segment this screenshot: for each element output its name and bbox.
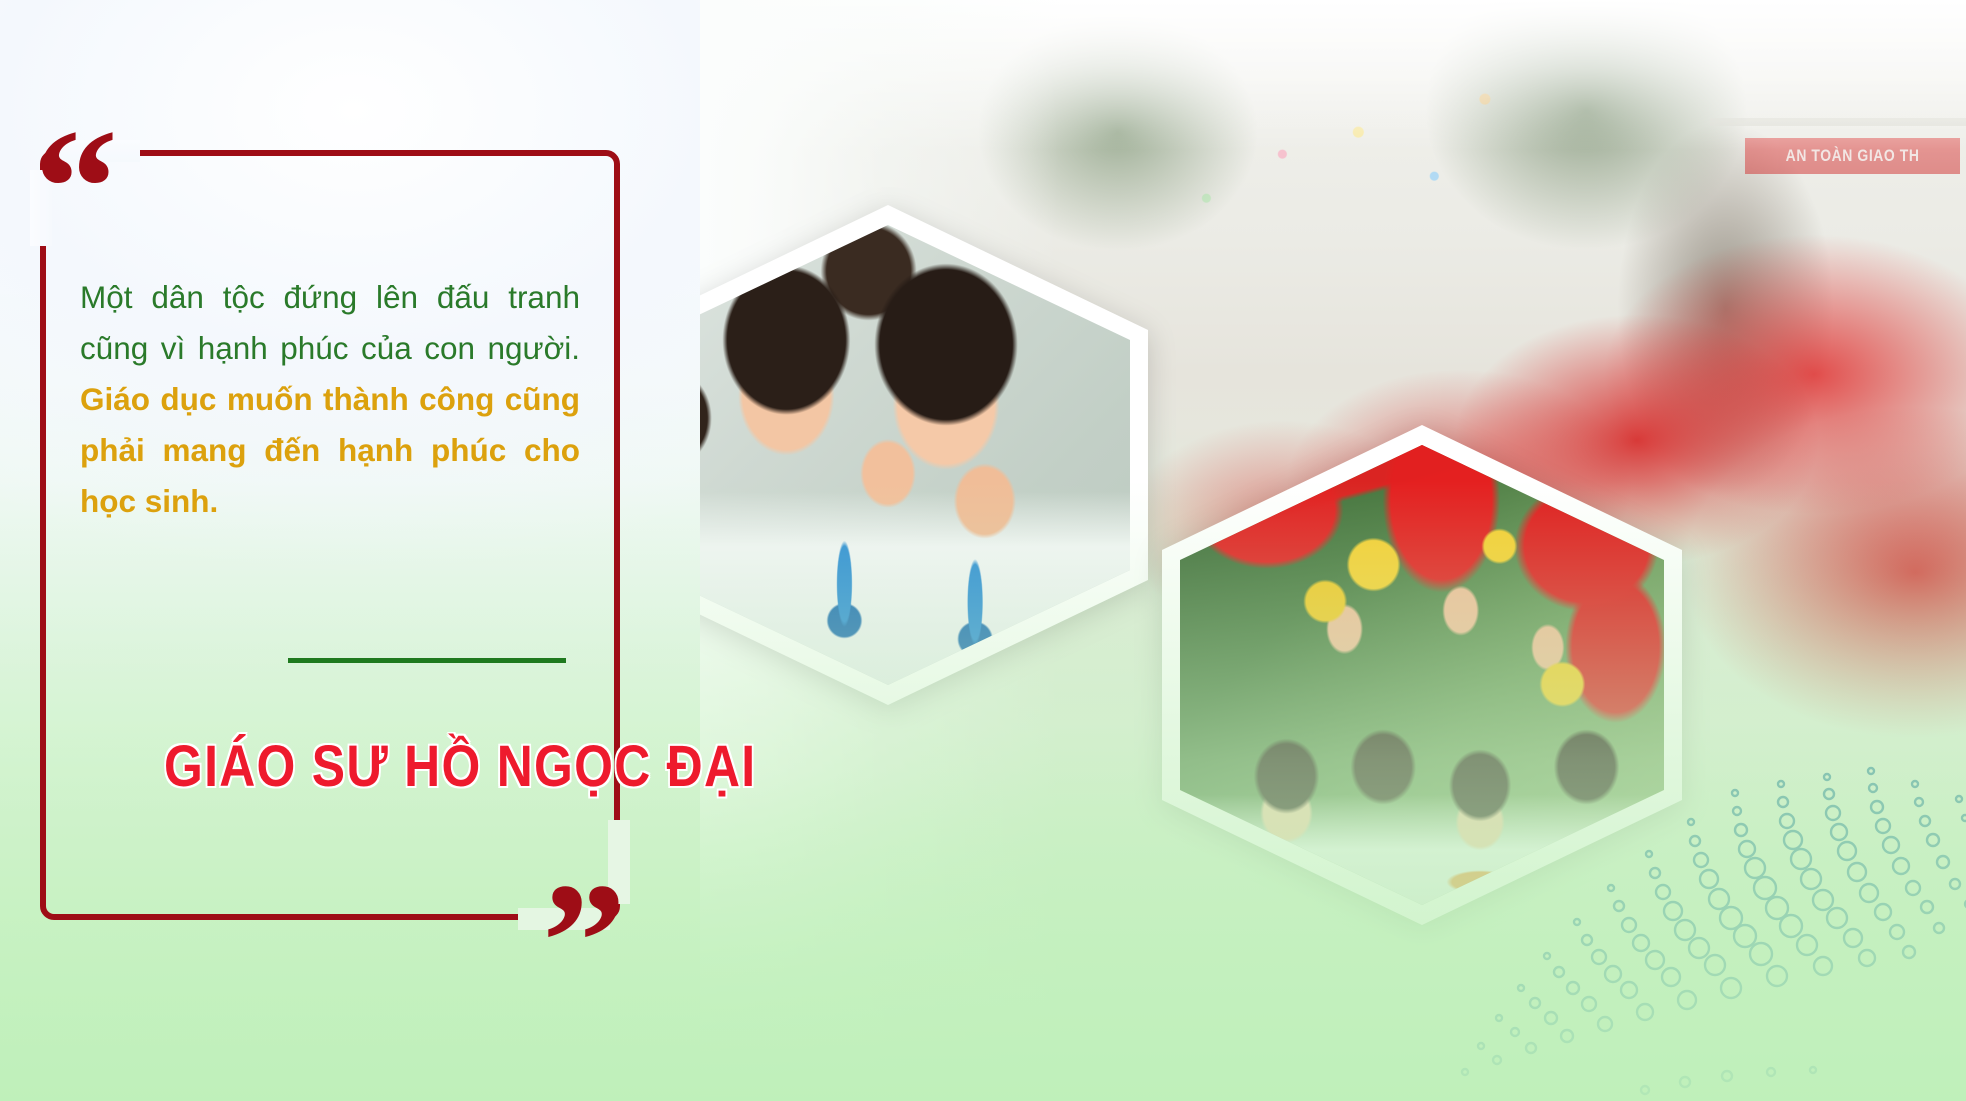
children-waving-flags-photo: [1162, 425, 1682, 925]
two-schoolgirls-photo: [700, 205, 1148, 705]
quote-block: “ ” Một dân tộc đứng lên đấu tranh cũng …: [40, 150, 620, 920]
quote-segment-green: Một dân tộc đứng lên đấu tranh cũng vì h…: [80, 279, 580, 366]
hex-photo-inner: [700, 225, 1130, 685]
schoolgirls-image: [700, 225, 1130, 685]
poster-canvas: AN TOÀN GIAO TH: [0, 0, 1966, 1101]
quote-text: Một dân tộc đứng lên đấu tranh cũng vì h…: [80, 272, 580, 527]
hex-photo-inner: [1180, 445, 1664, 905]
flags-image: [1180, 445, 1664, 905]
closing-quote-mark: ”: [542, 858, 626, 1026]
quote-segment-gold: Giáo dục muốn thành công cũng phải mang …: [80, 381, 580, 519]
quote-frame-border: [40, 150, 620, 920]
opening-quote-mark: “: [34, 104, 118, 272]
quote-author: GIÁO SƯ HỒ NGỌC ĐẠI: [164, 738, 560, 796]
photo-collage: AN TOÀN GIAO TH: [700, 0, 1966, 1101]
quote-divider-rule: [288, 658, 566, 663]
